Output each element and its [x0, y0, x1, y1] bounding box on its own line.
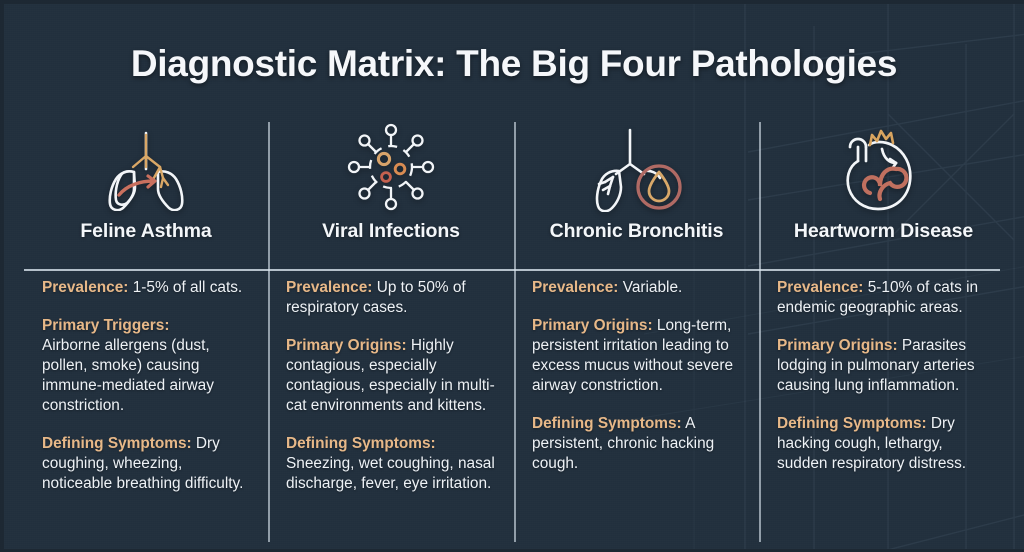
column-title: Feline Asthma [42, 220, 250, 243]
entry-prevalence: Prevalence: 1-5% of all cats. [42, 278, 250, 298]
infographic-poster: Diagnostic Matrix: The Big Four Patholog… [0, 0, 1024, 552]
pathology-grid: Feline Asthma Prevalence: 1-5% of all ca… [24, 116, 1008, 548]
pathology-column-viral-infections: Viral Infections Prevalence: Up to 50% o… [268, 116, 514, 548]
entry-label: Defining Symptoms: [532, 415, 682, 432]
entry-label: Primary Triggers: [42, 317, 169, 334]
column-body: Prevalence: 5-10% of cats in endemic geo… [777, 278, 990, 474]
entry-label: Primary Origins: [286, 337, 407, 354]
column-title: Heartworm Disease [777, 220, 990, 243]
entry-label: Prevalence: [42, 279, 128, 296]
entry-text: 1-5% of all cats. [128, 279, 242, 296]
entry-primary-origins: Primary Origins: Long-term, persistent i… [532, 316, 741, 396]
entry-prevalence: Prevalence: Up to 50% of respiratory cas… [286, 278, 496, 318]
virus-particle-icon [286, 116, 496, 218]
entry-label: Defining Symptoms: [286, 435, 436, 452]
entry-text: Sneezing, wet coughing, nasal discharge,… [286, 455, 495, 492]
column-title: Chronic Bronchitis [532, 220, 741, 243]
column-title: Viral Infections [286, 220, 496, 243]
entry-primary-origins: Primary Origins: Parasites lodging in pu… [777, 336, 990, 396]
pathology-column-chronic-bronchitis: Chronic Bronchitis Prevalence: Variable.… [514, 116, 759, 548]
lungs-mucus-droplet-icon [532, 116, 741, 218]
entry-label: Primary Origins: [777, 337, 898, 354]
pathology-column-feline-asthma: Feline Asthma Prevalence: 1-5% of all ca… [24, 116, 268, 548]
entry-prevalence: Prevalence: 5-10% of cats in endemic geo… [777, 278, 990, 318]
entry-defining-symptoms: Defining Symptoms: Dry hacking cough, le… [777, 414, 990, 474]
entry-label: Prevalence: [532, 279, 618, 296]
entry-text: Variable. [618, 279, 682, 296]
header-divider-rule [24, 269, 1000, 271]
column-body: Prevalence: Variable. Primary Origins: L… [532, 278, 741, 474]
entry-defining-symptoms: Defining Symptoms: Dry coughing, wheezin… [42, 434, 250, 494]
entry-label: Primary Origins: [532, 317, 653, 334]
entry-label: Defining Symptoms: [42, 435, 192, 452]
entry-prevalence: Prevalence: Variable. [532, 278, 741, 298]
entry-label: Prevalence: [286, 279, 372, 296]
lungs-airway-constriction-icon [42, 116, 250, 218]
entry-label: Defining Symptoms: [777, 415, 927, 432]
entry-primary-origins: Primary Origins: Highly contagious, espe… [286, 336, 496, 416]
entry-defining-symptoms: Defining Symptoms: A persistent, chronic… [532, 414, 741, 474]
pathology-column-heartworm-disease: Heartworm Disease Prevalence: 5-10% of c… [759, 116, 1008, 548]
column-body: Prevalence: Up to 50% of respiratory cas… [286, 278, 496, 494]
heart-worm-icon [777, 116, 990, 218]
column-body: Prevalence: 1-5% of all cats. Primary Tr… [42, 278, 250, 494]
entry-text: Airborne allergens (dust, pollen, smoke)… [42, 337, 214, 414]
page-title: Diagnostic Matrix: The Big Four Patholog… [4, 43, 1024, 85]
entry-primary-triggers: Primary Triggers:Airborne allergens (dus… [42, 316, 250, 416]
entry-label: Prevalence: [777, 279, 863, 296]
entry-defining-symptoms: Defining Symptoms:Sneezing, wet coughing… [286, 434, 496, 494]
